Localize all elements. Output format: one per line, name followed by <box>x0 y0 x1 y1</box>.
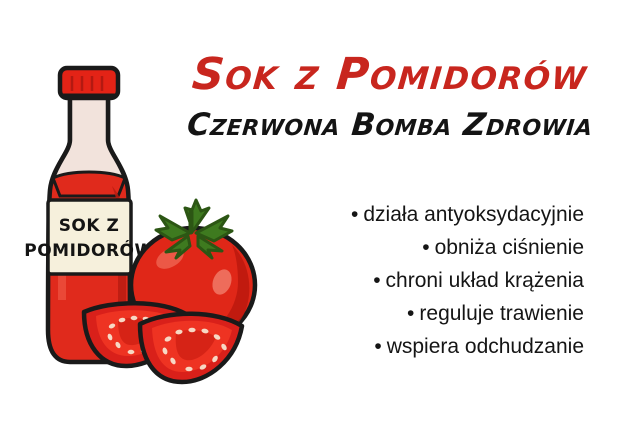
poster-subtitle: Czerwona Bomba Zdrowia <box>159 108 622 142</box>
juice-surface <box>53 172 125 196</box>
benefit-text: chroni układ krążenia <box>386 269 584 292</box>
bullet-icon: • <box>373 269 380 292</box>
poster-canvas: SOK Z POMIDORÓW <box>0 0 640 427</box>
benefit-text: wspiera odchudzanie <box>387 335 584 358</box>
benefit-text: reguluje trawienie <box>419 302 584 325</box>
bottle-label-line2: POMIDORÓW <box>24 239 154 261</box>
benefit-item: •chroni układ krążenia <box>160 264 584 297</box>
benefit-item: •obniża ciśnienie <box>160 231 584 264</box>
bullet-icon: • <box>374 335 381 358</box>
benefit-text: obniża ciśnienie <box>435 236 584 259</box>
bullet-icon: • <box>351 203 358 226</box>
bottle-label-line1: SOK Z <box>59 216 120 236</box>
benefit-item: •działa antyoksydacyjnie <box>160 198 584 231</box>
benefits-list: •działa antyoksydacyjnie •obniża ciśnien… <box>160 198 584 363</box>
benefit-item: •wspiera odchudzanie <box>160 330 584 363</box>
bottle-label <box>48 200 131 274</box>
bullet-icon: • <box>407 302 414 325</box>
poster-title: Sok z Pomidorów <box>158 52 622 98</box>
benefit-text: działa antyoksydacyjnie <box>363 203 584 226</box>
bottle-neck-glass <box>53 96 125 178</box>
benefit-item: •reguluje trawienie <box>160 297 584 330</box>
text-column: Sok z Pomidorów Czerwona Bomba Zdrowia •… <box>160 0 620 427</box>
bullet-icon: • <box>422 236 429 259</box>
